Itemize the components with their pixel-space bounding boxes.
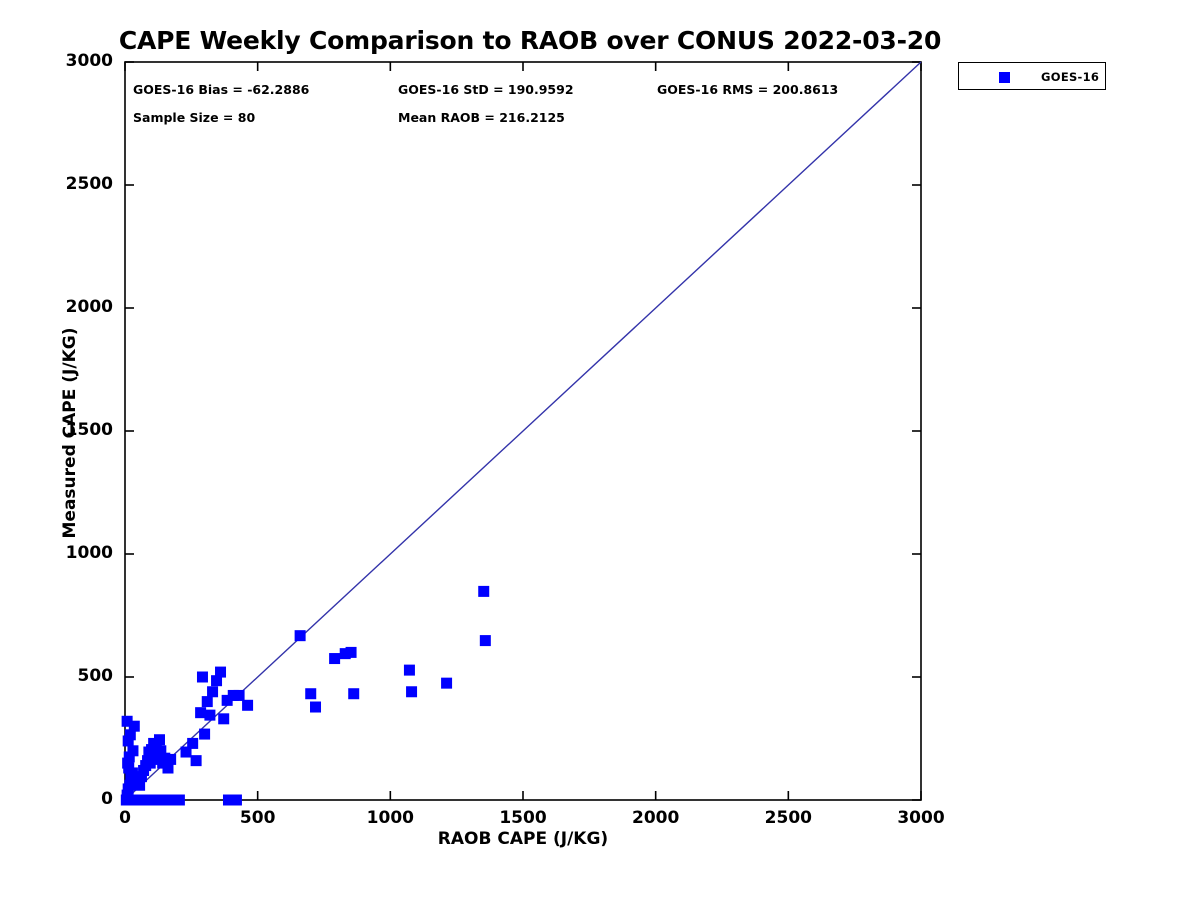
scatter-point — [478, 586, 489, 597]
scatter-point — [218, 713, 229, 724]
scatter-point — [234, 690, 245, 701]
chart-figure: CAPE Weekly Comparison to RAOB over CONU… — [0, 0, 1200, 900]
x-tick-label: 0 — [75, 808, 175, 828]
x-tick-label: 2500 — [738, 808, 838, 828]
y-tick-label: 2000 — [13, 297, 113, 317]
scatter-points — [121, 586, 491, 806]
scatter-point — [231, 795, 242, 806]
scatter-point — [295, 630, 306, 641]
scatter-point — [165, 754, 176, 765]
scatter-point — [127, 745, 138, 756]
one-to-one-reference-line — [125, 62, 921, 800]
scatter-point — [187, 738, 198, 749]
y-tick-label: 3000 — [13, 51, 113, 71]
scatter-point — [242, 700, 253, 711]
scatter-point — [143, 747, 154, 758]
y-tick-label: 0 — [13, 789, 113, 809]
legend-label-goes16: GOES-16 — [1041, 70, 1099, 84]
scatter-point — [129, 721, 140, 732]
scatter-point — [174, 795, 185, 806]
x-tick-label: 1000 — [340, 808, 440, 828]
x-tick-label: 2000 — [606, 808, 706, 828]
scatter-point — [204, 710, 215, 721]
scatter-point — [191, 755, 202, 766]
legend-marker-goes16-icon — [999, 72, 1010, 83]
scatter-point — [197, 672, 208, 683]
y-tick-label: 1000 — [13, 543, 113, 563]
scatter-point — [199, 729, 210, 740]
scatter-point — [406, 686, 417, 697]
scatter-point — [154, 734, 165, 745]
y-tick-label: 500 — [13, 666, 113, 686]
scatter-point — [441, 678, 452, 689]
x-tick-label: 3000 — [871, 808, 971, 828]
plot-area — [0, 0, 1200, 900]
scatter-point — [202, 696, 213, 707]
scatter-point — [207, 686, 218, 697]
scatter-point — [346, 647, 357, 658]
y-tick-label: 1500 — [13, 420, 113, 440]
y-tick-label: 2500 — [13, 174, 113, 194]
scatter-point — [329, 653, 340, 664]
scatter-point — [404, 665, 415, 676]
x-tick-label: 500 — [208, 808, 308, 828]
legend: GOES-16 — [958, 62, 1106, 90]
x-tick-label: 1500 — [473, 808, 573, 828]
scatter-point — [215, 667, 226, 678]
scatter-point — [348, 688, 359, 699]
scatter-point — [310, 702, 321, 713]
scatter-point — [305, 688, 316, 699]
scatter-point — [480, 635, 491, 646]
